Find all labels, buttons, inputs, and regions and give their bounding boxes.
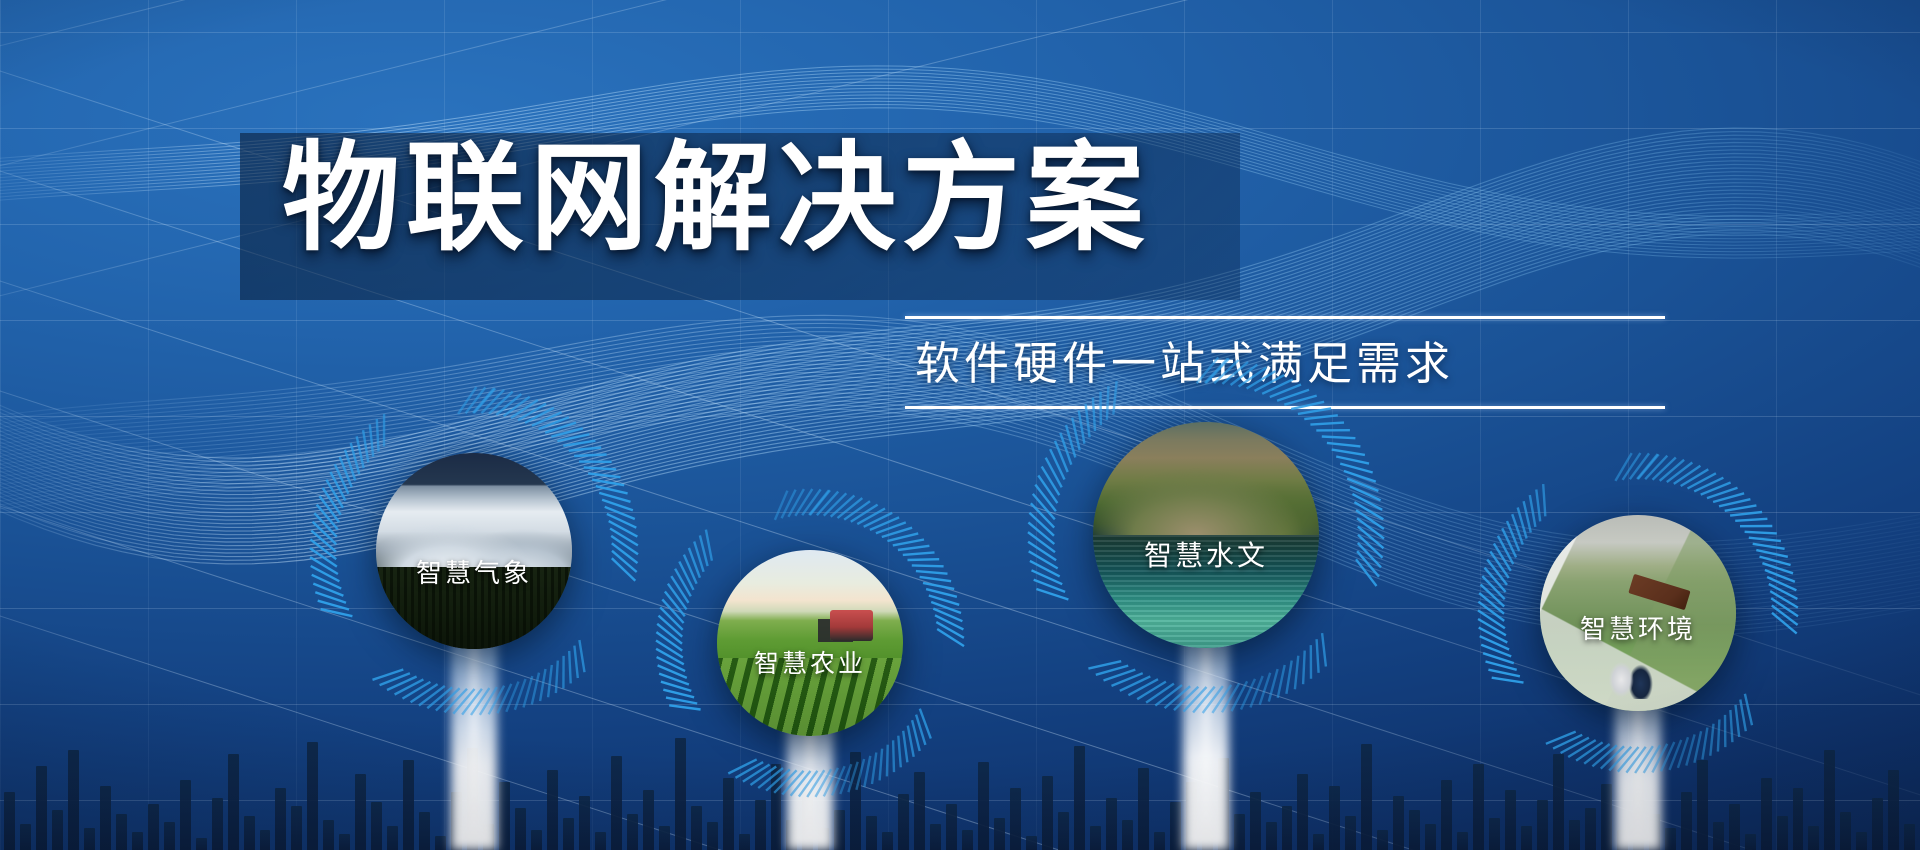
feature-disc[interactable]: 智慧气象 [376,453,572,649]
page-title: 物联网解决方案 [282,140,1150,258]
feature-item-agriculture[interactable]: 智慧农业 [648,481,972,805]
feature-disc[interactable]: 智慧环境 [1540,515,1736,711]
feature-label: 智慧水文 [1093,531,1319,576]
feature-label: 智慧环境 [1540,606,1736,648]
iot-solution-banner: 物联网解决方案 软件硬件一站式满足需求 智慧气象 智慧农业 智慧水文 [0,0,1920,850]
feature-label: 智慧农业 [717,642,903,682]
feature-item-hydrology[interactable]: 智慧水文 [1020,349,1392,721]
people-figures [1607,648,1658,699]
feature-item-environment[interactable]: 智慧环境 [1470,445,1806,781]
feature-disc[interactable]: 智慧农业 [717,550,903,736]
feature-disc[interactable]: 智慧水文 [1093,422,1319,648]
feature-item-weather[interactable]: 智慧气象 [302,379,646,723]
feature-label: 智慧气象 [376,550,572,592]
